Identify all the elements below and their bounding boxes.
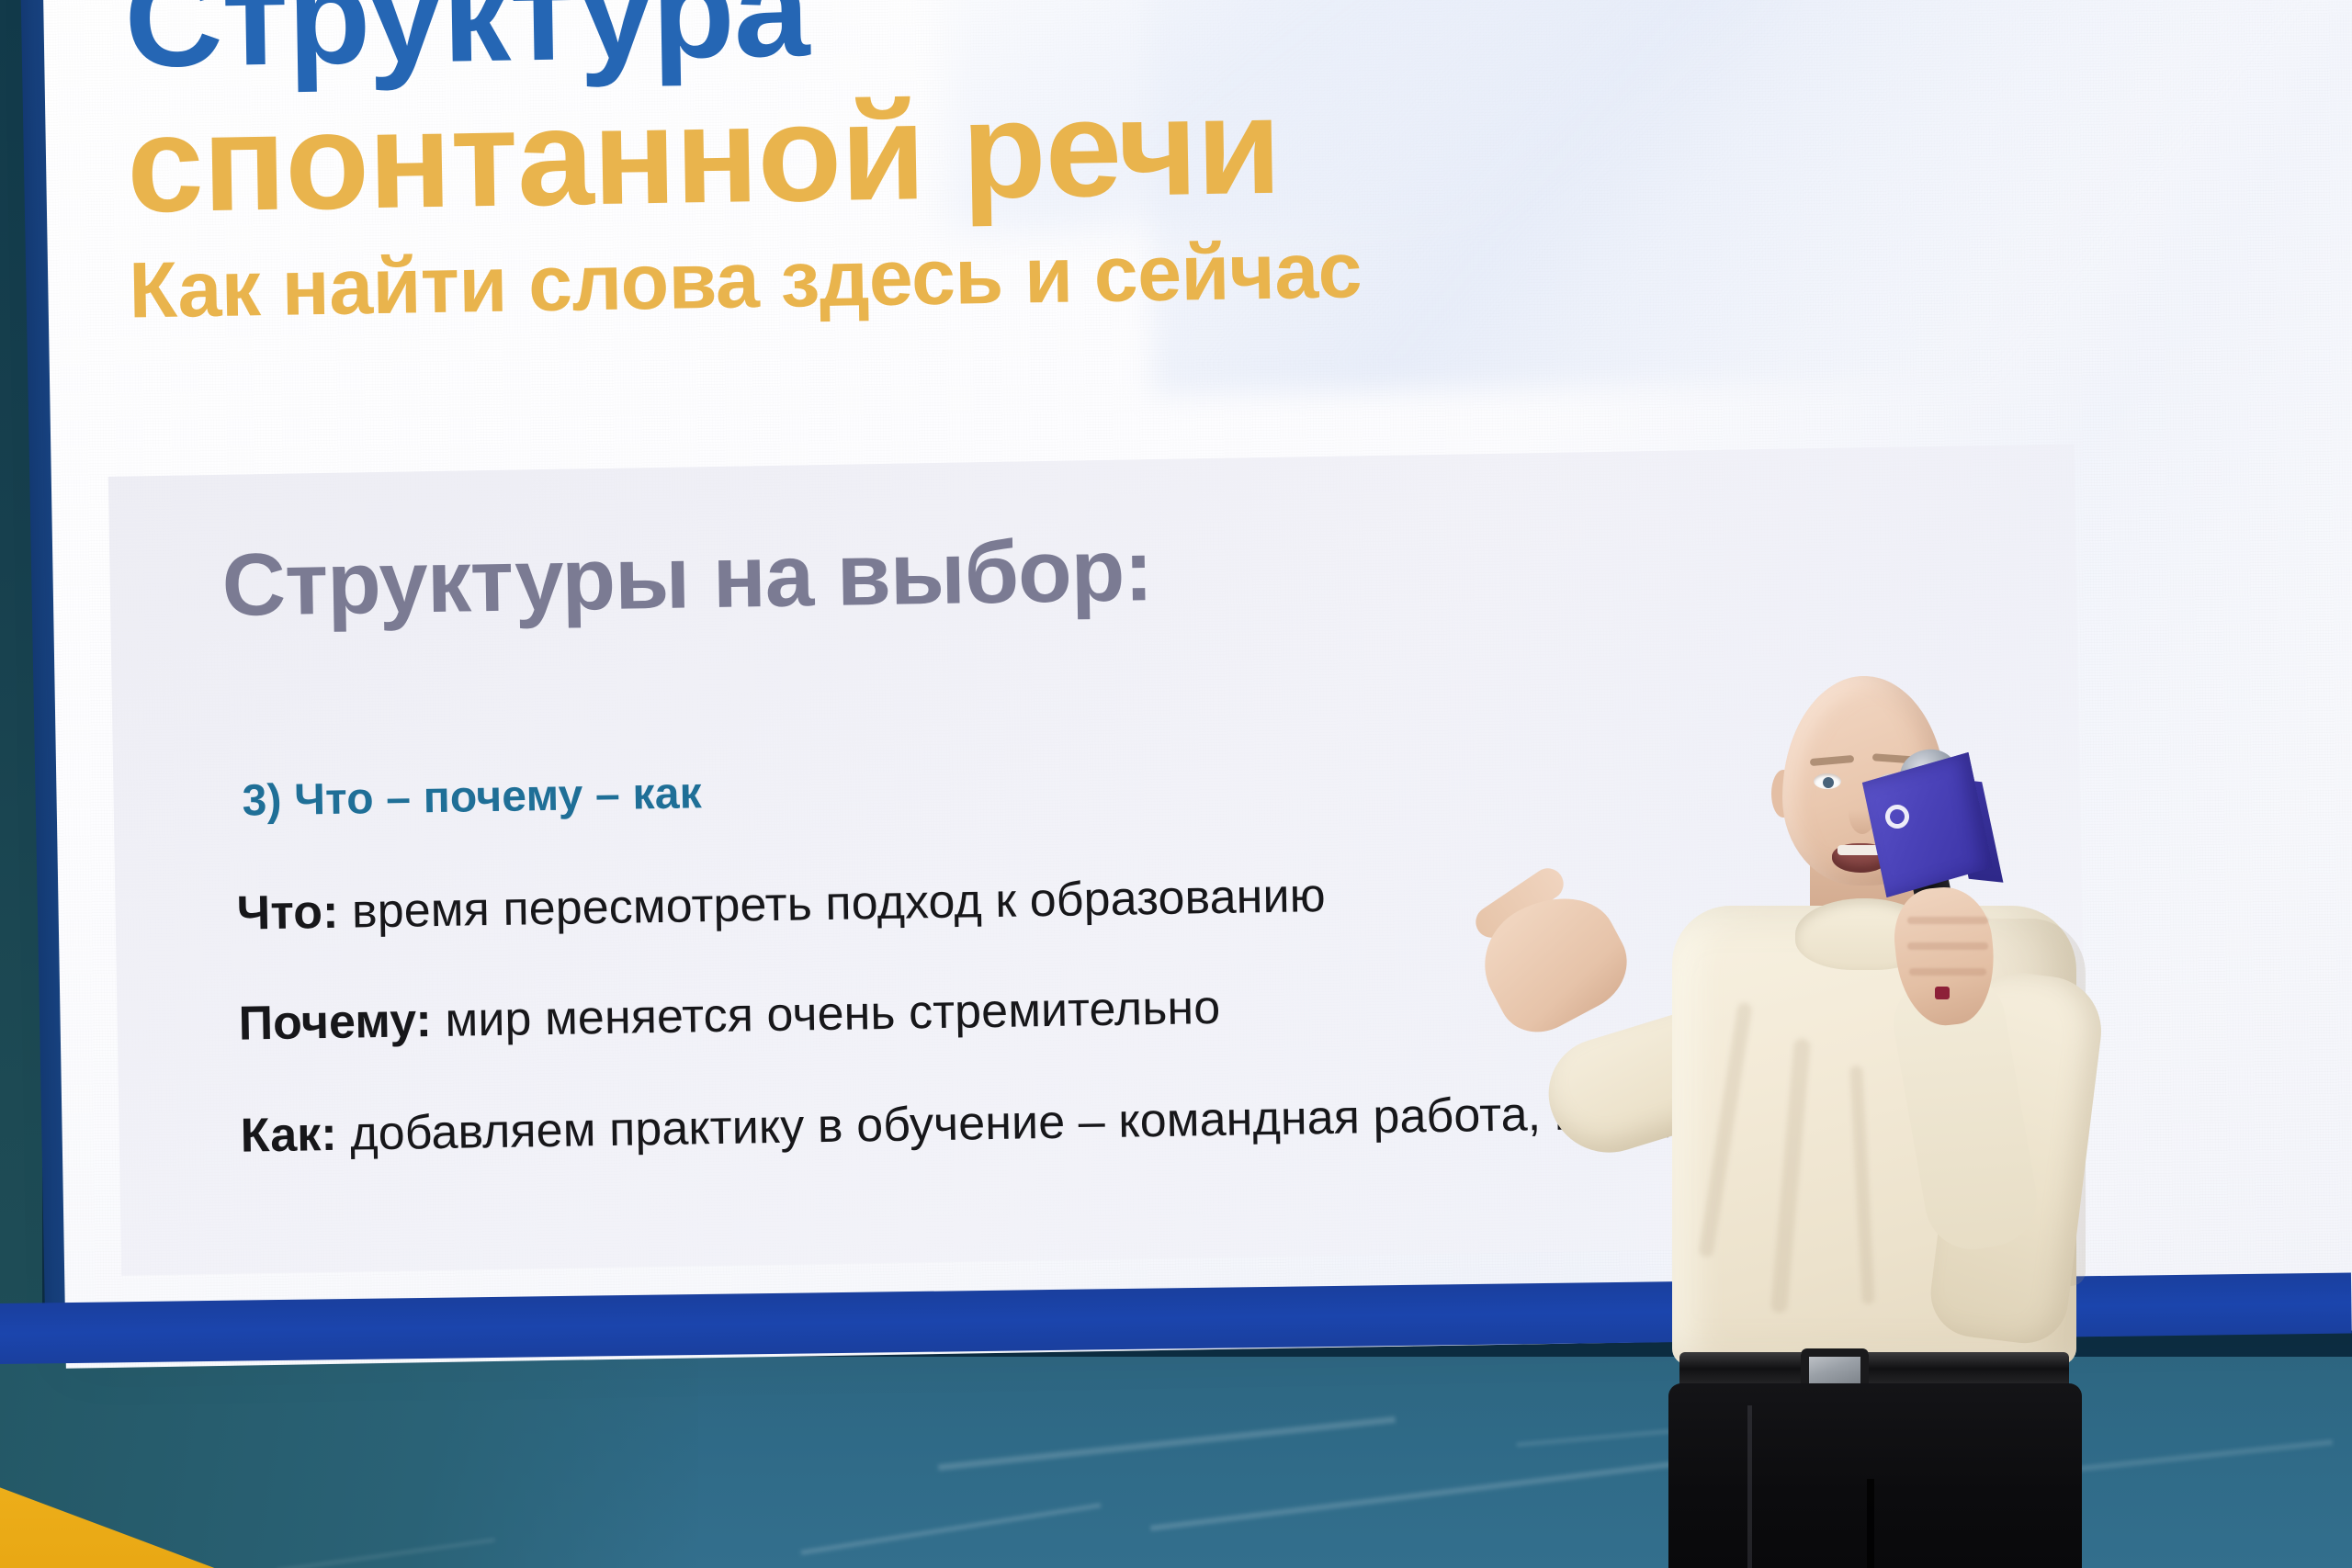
body-line-why-text: мир меняется очень стремительно	[431, 981, 1220, 1047]
body-line-what-label: Что:	[236, 886, 339, 941]
presenter-ring	[1935, 987, 1950, 999]
slide-title-block: Структура спонтанной речи Как найти слов…	[123, 0, 2059, 333]
hand-knuckle-line	[1907, 942, 1988, 950]
hand-knuckle-line	[1909, 968, 1986, 976]
trouser-crease	[1747, 1405, 1752, 1568]
stage-scene: Структура спонтанной речи Как найти слов…	[0, 0, 2352, 1568]
presenter	[1507, 671, 2205, 1568]
structure-option-label: 3) Что – почему – как	[242, 768, 702, 826]
body-line-what: Что: время пересмотреть подход к образов…	[236, 868, 1326, 942]
presenter-trousers	[1668, 1383, 2082, 1568]
body-line-what-text: время пересмотреть подход к образованию	[338, 869, 1326, 939]
trouser-inseam	[1867, 1479, 1874, 1568]
slide-title-secondary: спонтанной речи	[126, 62, 2057, 235]
hand-knuckle-line	[1907, 917, 1988, 924]
body-line-how: Как: добавляем практику в обучение – ком…	[240, 1084, 1705, 1163]
body-line-how-label: Как:	[240, 1108, 337, 1163]
body-line-how-text: добавляем практику в обучение – командна…	[336, 1085, 1705, 1161]
body-line-why-label: Почему:	[238, 994, 432, 1050]
body-line-why: Почему: мир меняется очень стремительно	[238, 980, 1221, 1052]
content-panel-heading: Структуры на выбор:	[221, 520, 1153, 637]
presenter-pupil-left	[1823, 777, 1834, 788]
